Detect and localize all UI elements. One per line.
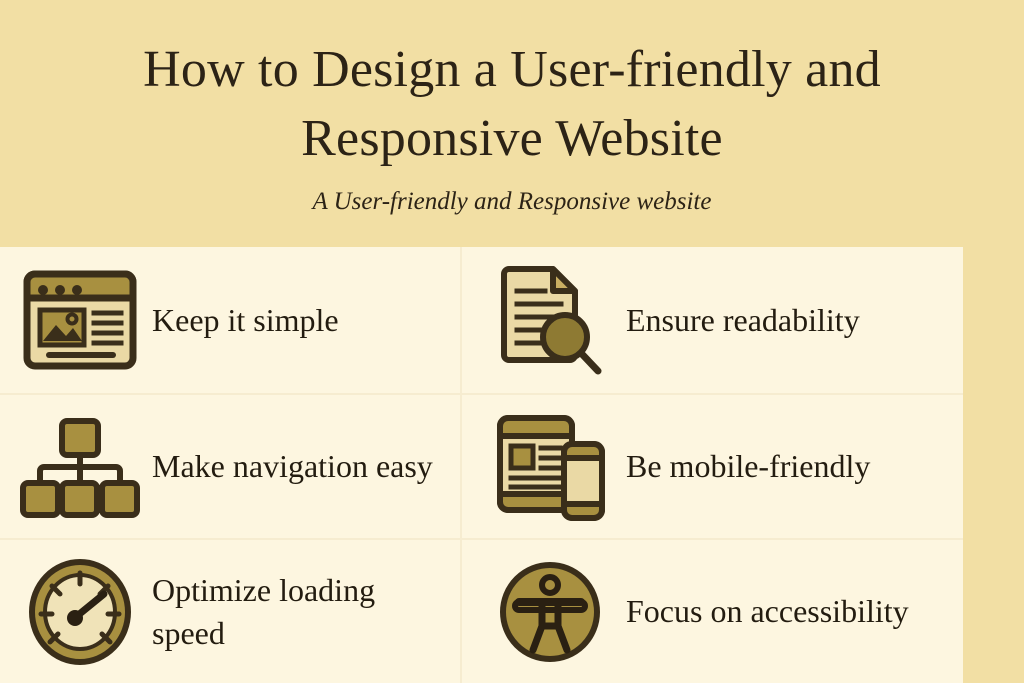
- tip-cell-optimize-loading-speed: Optimize loading speed: [0, 540, 460, 683]
- tip-cell-ensure-readability: Ensure readability: [460, 247, 963, 395]
- tip-label: Focus on accessibility: [616, 590, 951, 632]
- browser-window-icon: [14, 260, 146, 380]
- tip-cell-be-mobile-friendly: Be mobile-friendly: [460, 395, 963, 540]
- tip-cell-keep-it-simple: Keep it simple: [0, 247, 460, 395]
- tip-label: Be mobile-friendly: [616, 445, 951, 487]
- right-background-strip: [963, 247, 1024, 683]
- sitemap-hierarchy-icon: [14, 407, 146, 527]
- page-title-line-2: Responsive Website: [301, 110, 723, 167]
- tip-label: Make navigation easy: [146, 445, 448, 487]
- speedometer-icon: [14, 552, 146, 672]
- tip-label: Keep it simple: [146, 299, 448, 341]
- poster-header: How to Design a User-friendly and Respon…: [0, 0, 1024, 247]
- tip-cell-focus-on-accessibility: Focus on accessibility: [460, 540, 963, 683]
- page-title: How to Design a User-friendly and Respon…: [70, 36, 954, 173]
- tablet-phone-icon: [484, 407, 616, 527]
- document-magnifier-icon: [484, 260, 616, 380]
- tip-cell-make-navigation-easy: Make navigation easy: [0, 395, 460, 540]
- page-subtitle: A User-friendly and Responsive website: [70, 187, 954, 217]
- accessibility-person-icon: [484, 552, 616, 672]
- infographic-poster: How to Design a User-friendly and Respon…: [0, 0, 1024, 683]
- tips-grid: Keep it simple: [0, 247, 963, 683]
- tip-label: Optimize loading speed: [146, 569, 448, 653]
- page-title-line-1: How to Design a User-friendly and: [143, 41, 881, 98]
- tip-label: Ensure readability: [616, 299, 951, 341]
